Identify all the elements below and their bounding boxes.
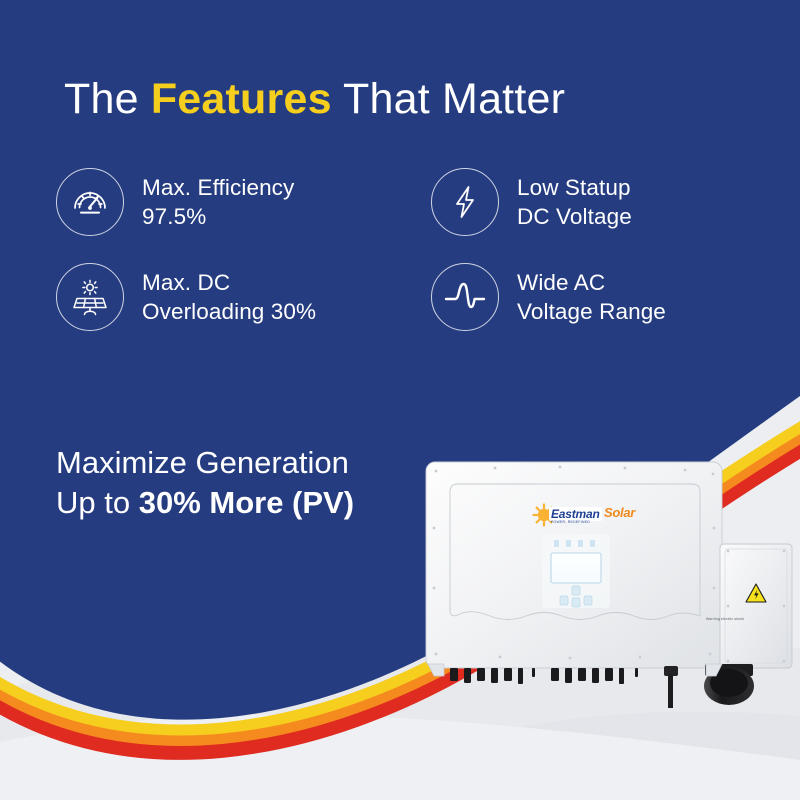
brand-suffix: Solar <box>604 505 635 520</box>
feature-item-wide-ac-voltage-range[interactable]: Wide AC Voltage Range <box>431 263 756 331</box>
feature-line-1: Low Statup <box>517 173 632 202</box>
feature-line-2: Voltage Range <box>517 297 666 326</box>
brand-tagline: POWER. REDEFINED <box>551 520 590 524</box>
promo-headline: Maximize Generation Up to 30% More (PV) <box>56 443 354 524</box>
feature-line-2: DC Voltage <box>517 202 632 231</box>
speedometer-icon <box>56 168 124 236</box>
lightning-bolt-icon <box>431 168 499 236</box>
brand-name: Eastman <box>549 507 602 521</box>
title-part-1: The <box>64 75 151 123</box>
ac-output-cable <box>664 666 678 708</box>
feature-line-1: Max. Efficiency <box>142 173 294 202</box>
solar-panel-icon <box>56 263 124 331</box>
feature-line-1: Wide AC <box>517 268 666 297</box>
page-title: The Features That Matter <box>64 76 565 122</box>
lcd-screen <box>551 553 601 583</box>
feature-label: Wide AC Voltage Range <box>517 268 666 327</box>
promo-line-2-bold: 30% More (PV) <box>139 485 354 520</box>
dc-connectors <box>450 668 638 684</box>
title-highlight: Features <box>151 75 332 123</box>
feature-row-1: Max. Efficiency 97.5% Low Statup DC Volt… <box>56 168 756 236</box>
promo-line-2-prefix: Up to <box>56 485 139 520</box>
inverter-display-panel[interactable] <box>542 534 610 608</box>
solar-inverter <box>420 458 800 708</box>
feature-label: Max. DC Overloading 30% <box>142 268 316 327</box>
feature-row-2: Max. DC Overloading 30% Wide AC Voltage … <box>56 263 756 331</box>
title-part-2: That Matter <box>332 75 565 123</box>
feature-line-2: 97.5% <box>142 202 294 231</box>
feature-line-2: Overloading 30% <box>142 297 316 326</box>
feature-list: Max. Efficiency 97.5% Low Statup DC Volt… <box>56 168 756 331</box>
feature-line-1: Max. DC <box>142 268 316 297</box>
warning-label: Warning electric shock <box>694 617 756 621</box>
feature-label: Max. Efficiency 97.5% <box>142 173 294 232</box>
feature-label: Low Statup DC Voltage <box>517 173 632 232</box>
feature-item-max-efficiency[interactable]: Max. Efficiency 97.5% <box>56 168 431 236</box>
junction-box <box>720 544 792 668</box>
feature-item-max-dc-overloading[interactable]: Max. DC Overloading 30% <box>56 263 431 331</box>
marketing-banner: The Features That Matter <box>0 0 800 800</box>
feature-item-low-startup-voltage[interactable]: Low Statup DC Voltage <box>431 168 756 236</box>
brand-logo: Eastman POWER. REDEFINED Solar <box>527 501 635 531</box>
promo-line-2: Up to 30% More (PV) <box>56 483 354 523</box>
ac-waveform-icon <box>431 263 499 331</box>
promo-line-1: Maximize Generation <box>56 443 354 483</box>
